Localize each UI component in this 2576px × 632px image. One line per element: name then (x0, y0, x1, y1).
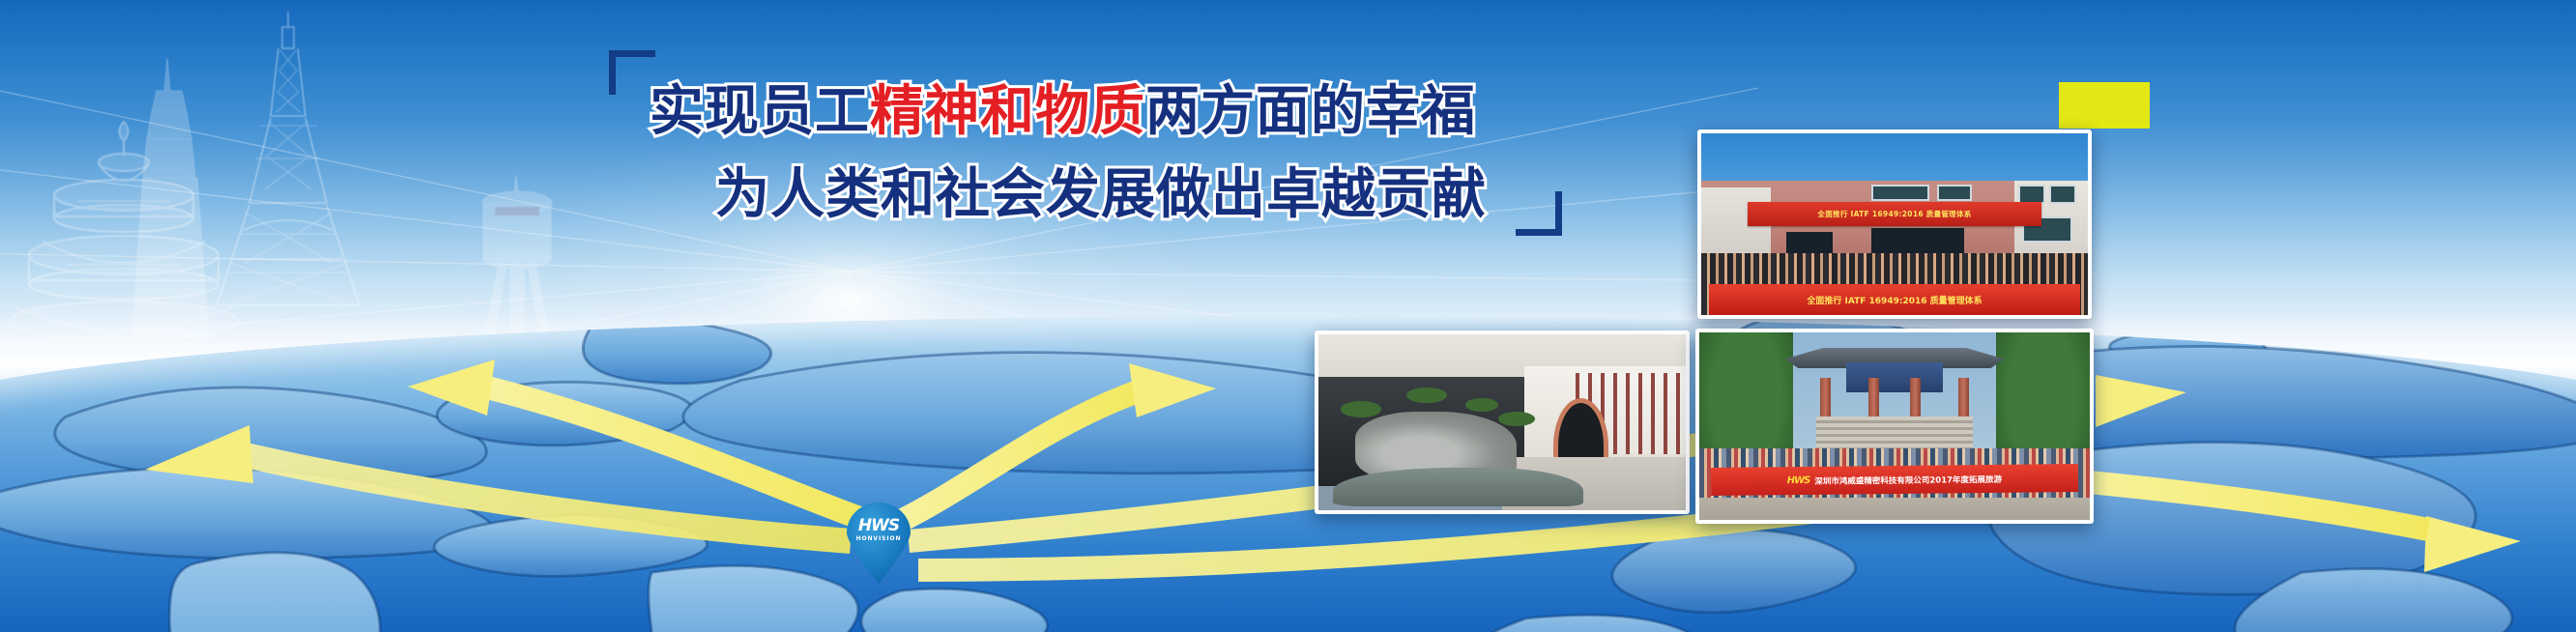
bracket-top-left-icon (609, 50, 655, 95)
gate-panel (1846, 362, 1943, 392)
factory-window (2018, 185, 2045, 205)
factory-window (2049, 185, 2076, 205)
pin-logo-sub: HONVISION (847, 536, 911, 542)
garden-planter (1465, 398, 1498, 413)
slogan-block: 实现员工精神和物质两方面的幸福 为人类和社会发展做出卓越贡献 (609, 50, 1556, 224)
photo-team-outing[interactable]: HWS 深圳市鸿威盛精密科技有限公司2017年度拓展旅游 (1695, 329, 2094, 524)
pin-logo-mark: HWS (847, 518, 911, 534)
bracket-bottom-right-icon (1516, 191, 1562, 236)
world-globe (0, 316, 2576, 632)
pin-logo: HWS HONVISION (847, 518, 911, 542)
slogan-line1-part3: 两方面的幸福 (1145, 80, 1476, 143)
outing-banner: HWS 深圳市鸿威盛精密科技有限公司2017年度拓展旅游 (1711, 464, 2078, 496)
jin-mao-tower-silhouette (106, 58, 232, 338)
slogan-line2-text: 为人类和社会发展做出卓越贡献 (715, 163, 1487, 226)
honvision-location-pin[interactable]: HWS HONVISION (847, 503, 911, 584)
garden-planter (1406, 388, 1447, 403)
photo-factory-group[interactable]: 全面推行 IATF 16949:2016 质量管理体系 全面推行 IATF 16… (1697, 129, 2092, 319)
factory-window (1937, 185, 1972, 201)
outing-banner-logo: HWS (1787, 475, 1810, 486)
factory-banner-front: 全面推行 IATF 16949:2016 质量管理体系 (1709, 284, 2080, 315)
slogan-line-1: 实现员工精神和物质两方面的幸福 (650, 68, 1476, 146)
slogan-line1-part1: 实现员工 (650, 80, 870, 143)
garden-pond (1333, 468, 1582, 506)
garden-planter (1341, 401, 1381, 417)
slogan-line1-highlight: 精神和物质 (870, 80, 1145, 143)
outing-banner-text: 深圳市鸿威盛精密科技有限公司2017年度拓展旅游 (1814, 473, 2002, 486)
factory-banner-top: 全面推行 IATF 16949:2016 质量管理体系 (1748, 202, 2041, 225)
corporate-vision-banner: HWS HONVISION 实现员工精神和物质两方面的幸福 为人类和社会发展做出… (0, 0, 2576, 632)
factory-window (1871, 185, 1929, 201)
photo-garden-courtyard[interactable] (1315, 330, 1690, 514)
garden-planter (1498, 412, 1535, 426)
yellow-accent-block (2059, 82, 2150, 129)
slogan-line-2: 为人类和社会发展做出卓越贡献 (715, 151, 1487, 229)
